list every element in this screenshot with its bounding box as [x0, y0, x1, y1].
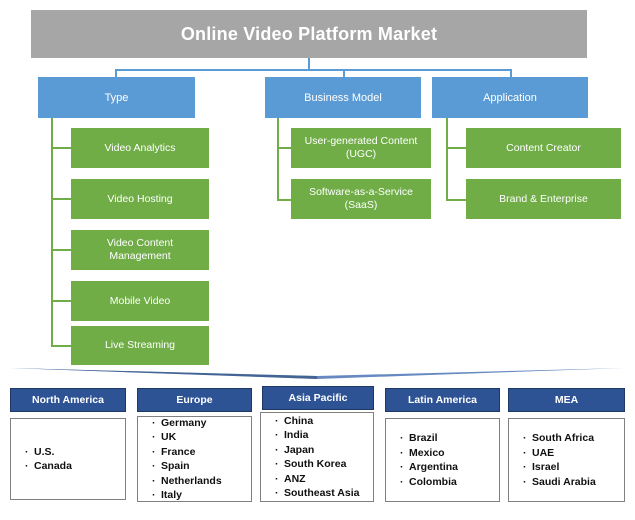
region-country-item: Italy: [152, 488, 251, 503]
connector-branch-ugc: [277, 147, 291, 149]
leaf-software-as-a-service[interactable]: Software-as-a-Service (SaaS): [291, 179, 431, 219]
region-country-item: Saudi Arabia: [523, 475, 624, 490]
region-country-item: South Africa: [523, 431, 624, 446]
leaf-brand-enterprise[interactable]: Brand & Enterprise: [466, 179, 621, 219]
region-country-item: South Korea: [275, 457, 373, 472]
category-box-type[interactable]: Type: [38, 77, 195, 118]
region-country-item: Brazil: [400, 431, 499, 446]
region-country-item: France: [152, 445, 251, 460]
region-header-latin-america[interactable]: Latin America: [385, 388, 500, 412]
region-country-item: Spain: [152, 459, 251, 474]
region-country-item: Mexico: [400, 446, 499, 461]
leaf-user-generated-content[interactable]: User-generated Content (UGC): [291, 128, 431, 168]
leaf-content-creator[interactable]: Content Creator: [466, 128, 621, 168]
region-country-item: U.S.: [25, 445, 125, 460]
leaf-mobile-video[interactable]: Mobile Video: [71, 281, 209, 321]
region-country-item: Netherlands: [152, 474, 251, 489]
region-country-item: Germany: [152, 416, 251, 431]
connector-branch-brand-enterprise: [446, 199, 466, 201]
region-header-north-america[interactable]: North America: [10, 388, 126, 412]
region-country-item: Argentina: [400, 460, 499, 475]
region-body-europe: GermanyUKFranceSpainNetherlandsItaly: [137, 416, 252, 502]
connector-branch-video-analytics: [51, 147, 71, 149]
connector-top-bus: [115, 69, 511, 71]
region-country-item: UAE: [523, 446, 624, 461]
region-country-list-north-america: U.S.Canada: [25, 445, 125, 474]
market-segmentation-diagram: Online Video Platform Market Type Busine…: [0, 0, 635, 520]
category-box-business-model[interactable]: Business Model: [265, 77, 421, 118]
region-country-item: Colombia: [400, 475, 499, 490]
region-country-item: Canada: [25, 459, 125, 474]
leaf-video-analytics[interactable]: Video Analytics: [71, 128, 209, 168]
region-country-list-latin-america: BrazilMexicoArgentinaColombia: [400, 431, 499, 489]
diagram-title: Online Video Platform Market: [31, 10, 587, 58]
region-country-list-asia-pacific: ChinaIndiaJapanSouth KoreaANZSoutheast A…: [275, 414, 373, 501]
region-country-list-mea: South AfricaUAEIsraelSaudi Arabia: [523, 431, 624, 489]
region-body-mea: South AfricaUAEIsraelSaudi Arabia: [508, 418, 625, 502]
connector-spine-application: [446, 118, 448, 200]
region-body-asia-pacific: ChinaIndiaJapanSouth KoreaANZSoutheast A…: [260, 412, 374, 502]
region-body-latin-america: BrazilMexicoArgentinaColombia: [385, 418, 500, 502]
connector-branch-live-streaming: [51, 345, 71, 347]
connector-branch-content-creator: [446, 147, 466, 149]
leaf-video-hosting[interactable]: Video Hosting: [71, 179, 209, 219]
region-country-item: UK: [152, 430, 251, 445]
region-header-asia-pacific[interactable]: Asia Pacific: [262, 386, 374, 410]
region-header-mea[interactable]: MEA: [508, 388, 625, 412]
connector-spine-type: [51, 118, 53, 346]
leaf-live-streaming[interactable]: Live Streaming: [71, 326, 209, 365]
region-country-item: India: [275, 428, 373, 443]
connector-branch-video-hosting: [51, 198, 71, 200]
section-divider-wedge: [0, 366, 635, 380]
connector-branch-video-content-management: [51, 249, 71, 251]
region-country-item: ANZ: [275, 472, 373, 487]
region-header-europe[interactable]: Europe: [137, 388, 252, 412]
region-country-list-europe: GermanyUKFranceSpainNetherlandsItaly: [152, 416, 251, 503]
connector-branch-saas: [277, 199, 291, 201]
leaf-video-content-management[interactable]: Video Content Management: [71, 230, 209, 270]
category-box-application[interactable]: Application: [432, 77, 588, 118]
region-country-item: Israel: [523, 460, 624, 475]
region-country-item: Southeast Asia: [275, 486, 373, 501]
region-country-item: Japan: [275, 443, 373, 458]
connector-spine-business-model: [277, 118, 279, 200]
region-body-north-america: U.S.Canada: [10, 418, 126, 500]
connector-branch-mobile-video: [51, 300, 71, 302]
region-country-item: China: [275, 414, 373, 429]
